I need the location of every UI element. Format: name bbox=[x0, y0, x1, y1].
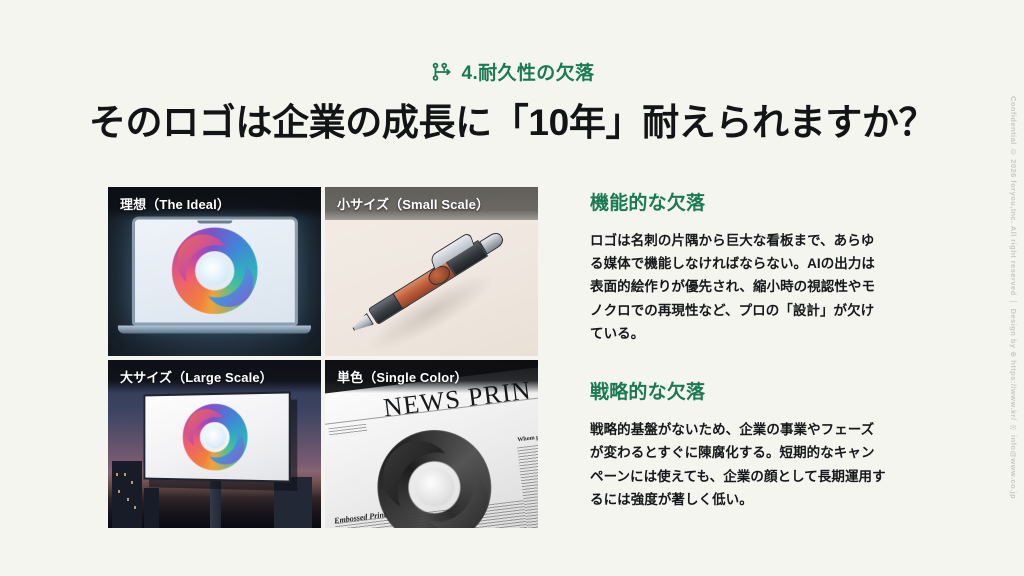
block-strategic-gap: 戦略的な欠落 戦略的基盤がないため、企業の事業やフェーズが変わるとすぐに陳腐化す… bbox=[590, 377, 886, 511]
gallery-caption-single-color: 単色（Single Color） bbox=[325, 360, 538, 393]
gallery-cell-small-scale[interactable]: 小サイズ（Small Scale） bbox=[325, 187, 538, 356]
image-gallery-grid: 理想（The Ideal） 小サイズ（Small Scale） bbox=[108, 187, 538, 528]
billboard-pole bbox=[210, 477, 221, 528]
laptop-screen bbox=[131, 216, 297, 325]
building-mid bbox=[144, 488, 159, 528]
credit-text: Confidential © 2026 foryou,Inc. All righ… bbox=[1009, 96, 1017, 499]
laptop-illustration bbox=[131, 216, 297, 333]
gallery-caption-small-scale: 小サイズ（Small Scale） bbox=[325, 187, 538, 220]
page-title: そのロゴは企業の成長に「10年」耐えられますか？ bbox=[0, 92, 1024, 146]
gallery-cell-ideal[interactable]: 理想（The Ideal） bbox=[108, 187, 321, 356]
billboard-panel bbox=[143, 392, 290, 483]
block-body-strategic: 戦略的基盤がないため、企業の事業やフェーズが変わるとすぐに陳腐化する。短期的なキ… bbox=[590, 418, 886, 511]
news-column-5 bbox=[328, 423, 367, 436]
vertical-credit: Confidential © 2026 foryou,Inc. All righ… bbox=[1005, 96, 1021, 488]
block-title-functional: 機能的な欠落 bbox=[590, 188, 886, 215]
laptop-base bbox=[118, 325, 311, 333]
eyebrow-label: 4.耐久性の欠落 bbox=[462, 58, 595, 85]
building-right bbox=[274, 477, 312, 528]
block-functional-gap: 機能的な欠落 ロゴは名刺の片隅から巨大な看板まで、あらゆる媒体で機能しなければな… bbox=[590, 188, 886, 345]
slide-root: 4.耐久性の欠落 そのロゴは企業の成長に「10年」耐えられますか？ bbox=[0, 0, 1024, 576]
building-left bbox=[112, 461, 142, 528]
newspaper-kicker-right: Whom premein bbox=[517, 432, 538, 443]
block-title-strategic: 戦略的な欠落 bbox=[590, 377, 886, 404]
section-eyebrow: 4.耐久性の欠落 bbox=[0, 58, 1024, 85]
swirl-core bbox=[203, 426, 225, 449]
git-branch-icon bbox=[430, 61, 452, 83]
gallery-caption-large-scale: 大サイズ（Large Scale） bbox=[108, 360, 321, 393]
laptop-notch bbox=[197, 220, 232, 223]
gallery-caption-ideal: 理想（The Ideal） bbox=[108, 187, 321, 220]
brand-swirl-logo-billboard bbox=[182, 403, 248, 471]
swirl-core bbox=[200, 256, 229, 285]
gallery-cell-single-color[interactable]: NEWS PRIN Embossed Print Whom premein bbox=[325, 360, 538, 529]
brand-swirl-logo bbox=[171, 227, 257, 313]
explanation-column: 機能的な欠落 ロゴは名刺の片隅から巨大な看板まで、あらゆる媒体で機能しなければな… bbox=[590, 188, 886, 511]
block-body-functional: ロゴは名刺の片隅から巨大な看板まで、あらゆる媒体で機能しなければならない。AIの… bbox=[590, 229, 886, 345]
gallery-cell-large-scale[interactable]: 大サイズ（Large Scale） bbox=[108, 360, 321, 529]
